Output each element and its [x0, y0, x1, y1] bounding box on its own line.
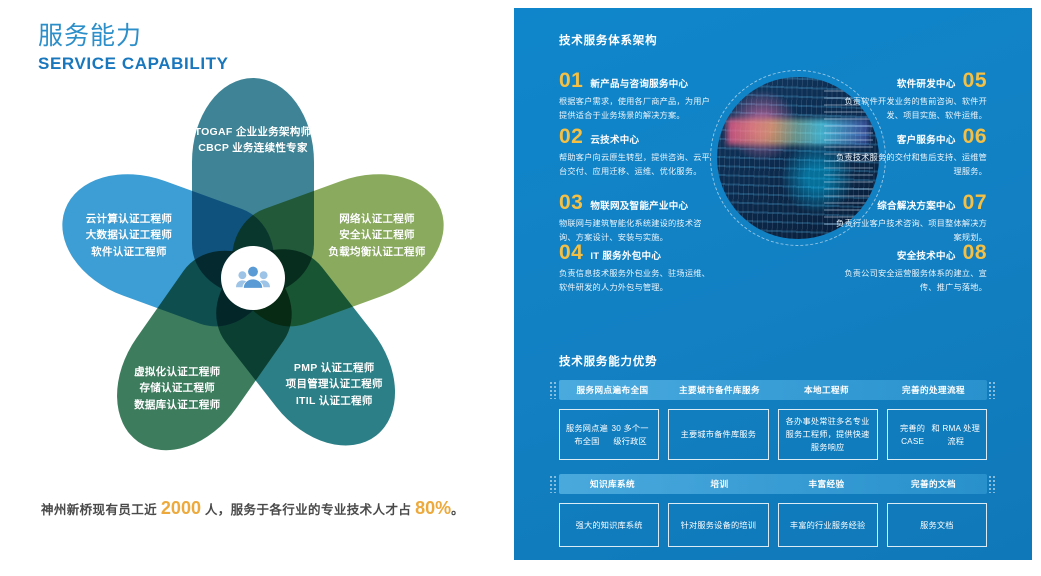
item-number-07: 07: [963, 192, 987, 213]
advantage-header-row-2: 知识库系统培训丰富经验完善的文档: [559, 474, 987, 494]
petal-5-line-2: 存储认证工程师: [96, 380, 258, 396]
item-desc-07: 负责行业客户技术咨询、项目整体解决方案规划。: [835, 217, 987, 244]
item-desc-05: 负责软件开发业务的售前咨询、软件开发、项目实施、软件运维。: [835, 95, 987, 122]
advantage-cell-line: 完善的 CASE: [894, 422, 932, 448]
advantage-cell-line: 主要城市: [681, 428, 715, 441]
advantage-cell-2-2[interactable]: 针对服务设备的培训: [668, 503, 768, 547]
petal-4-line-3: ITIL 认证工程师: [253, 393, 415, 409]
item-number-03: 03: [559, 192, 583, 213]
caption-percent: 80%: [415, 498, 451, 518]
title-english: SERVICE CAPABILITY: [38, 54, 229, 74]
petal-5-line-1: 虚拟化认证工程师: [96, 364, 258, 380]
advantage-header-row-1: 服务网点遍布全国主要城市备件库服务本地工程师完善的处理流程: [559, 380, 987, 400]
caption-part3: 。: [451, 503, 464, 517]
advantage-header-2-4: 完善的文档: [880, 478, 987, 490]
page-title: 服务能力 SERVICE CAPABILITY: [38, 22, 229, 74]
advantage-cell-line: 强大的知识库系统: [576, 519, 643, 532]
advantage-cell-row-1: 服务网点遍布全国30 多个一级行政区主要城市备件库服务各办事处常驻多名专业服务工…: [559, 409, 987, 460]
architecture-item-04[interactable]: 04IT 服务外包中心负责信息技术服务外包业务、驻场运维、软件研发的人力外包与管…: [559, 242, 711, 294]
advantage-grid: 服务网点遍布全国主要城市备件库服务本地工程师完善的处理流程服务网点遍布全国30 …: [559, 380, 987, 560]
architecture-item-01[interactable]: 01新产品与咨询服务中心根据客户需求，使用各厂商产品，为用户提供适合于业务场景的…: [559, 70, 711, 122]
petal-3-line-2: 安全认证工程师: [296, 227, 458, 243]
item-name-06: 客户服务中心: [897, 132, 956, 146]
advantage-cell-1-2[interactable]: 主要城市备件库服务: [668, 409, 768, 460]
advantage-cell-row-2: 强大的知识库系统针对服务设备的培训丰富的行业服务经验服务文档: [559, 503, 987, 547]
architecture-item-08[interactable]: 安全技术中心08负责公司安全运营服务体系的建立、宣传、推广与落地。: [835, 242, 987, 294]
item-name-07: 综合解决方案中心: [877, 198, 955, 212]
advantage-header-2-1: 知识库系统: [559, 478, 666, 490]
people-group-icon: [236, 261, 270, 295]
item-name-05: 软件研发中心: [897, 76, 956, 90]
petal-4-line-1: PMP 认证工程师: [253, 360, 415, 376]
caption-part2: 人，服务于各行业的专业技术人才占: [201, 503, 415, 517]
advantage-cell-line: 针对服务设备的培训: [681, 519, 757, 532]
architecture-item-05[interactable]: 软件研发中心05负责软件开发业务的售前咨询、软件开发、项目实施、软件运维。: [835, 70, 987, 122]
item-desc-08: 负责公司安全运营服务体系的建立、宣传、推广与落地。: [835, 267, 987, 294]
petal-2-line-2: CBCP 业务连续性专家: [172, 140, 334, 156]
advantage-cell-line: 和 RMA 处理流程: [931, 422, 980, 448]
petal-5-line-3: 数据库认证工程师: [96, 397, 258, 413]
advantage-cell-line: 备件库服务: [714, 428, 756, 441]
petal-1-line-2: 大数据认证工程师: [48, 227, 210, 243]
petal-3-line-1: 网络认证工程师: [296, 211, 458, 227]
advantage-cell-1-4[interactable]: 完善的 CASE和 RMA 处理流程: [887, 409, 987, 460]
item-name-03: 物联网及智能产业中心: [590, 198, 688, 212]
title-chinese: 服务能力: [38, 22, 229, 51]
item-name-08: 安全技术中心: [897, 248, 956, 262]
advantage-cell-line: 服务网点遍布全国: [566, 422, 608, 448]
architecture-section-title: 技术服务体系架构: [559, 32, 657, 48]
item-name-04: IT 服务外包中心: [590, 248, 661, 262]
petal-4-line-2: 项目管理认证工程师: [253, 376, 415, 392]
advantage-header-2-3: 丰富经验: [773, 478, 880, 490]
item-number-06: 06: [963, 126, 987, 147]
item-name-02: 云技术中心: [590, 132, 639, 146]
petal-1-line-3: 软件认证工程师: [48, 243, 210, 259]
advantage-header-1-4: 完善的处理流程: [880, 384, 987, 396]
item-number-08: 08: [963, 242, 987, 263]
advantage-header-2-2: 培训: [666, 478, 773, 490]
caption-employee-count: 2000: [161, 498, 201, 518]
advantage-cell-line: 各办事处常驻多名专业服务工程师，提供快速服务响应: [785, 415, 871, 454]
item-desc-02: 帮助客户向云原生转型，提供咨询、云平台交付、应用迁移、运维、优化服务。: [559, 151, 711, 178]
capability-flower-diagram: 云计算认证工程师大数据认证工程师软件认证工程师TOGAF 企业业务架构师CBCP…: [38, 78, 468, 478]
item-desc-06: 负责技术服务的交付和售后支持、运维管理服务。: [835, 151, 987, 178]
flower-petal-label-5: 虚拟化认证工程师存储认证工程师数据库认证工程师: [96, 364, 258, 413]
flower-petal-label-2: TOGAF 企业业务架构师CBCP 业务连续性专家: [172, 124, 334, 157]
left-pane: 服务能力 SERVICE CAPABILITY 云计算认证工程师大数据认证工程师…: [0, 0, 505, 576]
advantage-block-2: 知识库系统培训丰富经验完善的文档强大的知识库系统针对服务设备的培训丰富的行业服务…: [559, 474, 987, 547]
right-panel: 技术服务体系架构 01新产品与咨询服务中心根据客户需求，使用各厂商产品，为用户提…: [514, 8, 1032, 560]
advantage-cell-line: 丰富的行业服务经验: [790, 519, 866, 532]
architecture-item-07[interactable]: 综合解决方案中心07负责行业客户技术咨询、项目整体解决方案规划。: [835, 192, 987, 244]
petal-1-line-1: 云计算认证工程师: [48, 211, 210, 227]
slide-root: 服务能力 SERVICE CAPABILITY 云计算认证工程师大数据认证工程师…: [0, 0, 1041, 576]
advantage-cell-2-4[interactable]: 服务文档: [887, 503, 987, 547]
flower-petal-label-3: 网络认证工程师安全认证工程师负载均衡认证工程师: [296, 211, 458, 260]
advantage-cell-line: 30 多个一级行政区: [608, 422, 652, 448]
item-desc-01: 根据客户需求，使用各厂商产品，为用户提供适合于业务场景的解决方案。: [559, 95, 711, 122]
petal-2-line-1: TOGAF 企业业务架构师: [172, 124, 334, 140]
item-desc-03: 物联网与建筑智能化系统建设的技术咨询、方案设计、安装与实施。: [559, 217, 711, 244]
flower-center-hub: [221, 246, 285, 310]
advantage-block-1: 服务网点遍布全国主要城市备件库服务本地工程师完善的处理流程服务网点遍布全国30 …: [559, 380, 987, 460]
advantage-cell-2-3[interactable]: 丰富的行业服务经验: [778, 503, 878, 547]
advantage-section-title: 技术服务能力优势: [559, 353, 657, 369]
advantage-cell-1-1[interactable]: 服务网点遍布全国30 多个一级行政区: [559, 409, 659, 460]
caption-part1: 神州新桥现有员工近: [41, 503, 161, 517]
flower-petal-label-4: PMP 认证工程师项目管理认证工程师ITIL 认证工程师: [253, 360, 415, 409]
item-number-05: 05: [963, 70, 987, 91]
advantage-cell-line: 服务文档: [920, 519, 954, 532]
advantage-header-1-2: 主要城市备件库服务: [666, 384, 773, 396]
item-desc-04: 负责信息技术服务外包业务、驻场运维、软件研发的人力外包与管理。: [559, 267, 711, 294]
architecture-item-02[interactable]: 02云技术中心帮助客户向云原生转型，提供咨询、云平台交付、应用迁移、运维、优化服…: [559, 126, 711, 178]
advantage-header-1-3: 本地工程师: [773, 384, 880, 396]
item-number-01: 01: [559, 70, 583, 91]
advantage-cell-2-1[interactable]: 强大的知识库系统: [559, 503, 659, 547]
architecture-item-06[interactable]: 客户服务中心06负责技术服务的交付和售后支持、运维管理服务。: [835, 126, 987, 178]
advantage-cell-1-3[interactable]: 各办事处常驻多名专业服务工程师，提供快速服务响应: [778, 409, 878, 460]
advantage-header-1-1: 服务网点遍布全国: [559, 384, 666, 396]
petal-3-line-3: 负载均衡认证工程师: [296, 243, 458, 259]
flower-petal-label-1: 云计算认证工程师大数据认证工程师软件认证工程师: [48, 211, 210, 260]
item-number-02: 02: [559, 126, 583, 147]
item-number-04: 04: [559, 242, 583, 263]
architecture-item-03[interactable]: 03物联网及智能产业中心物联网与建筑智能化系统建设的技术咨询、方案设计、安装与实…: [559, 192, 711, 244]
item-name-01: 新产品与咨询服务中心: [590, 76, 688, 90]
employee-caption: 神州新桥现有员工近 2000 人，服务于各行业的专业技术人才占 80%。: [0, 498, 505, 519]
